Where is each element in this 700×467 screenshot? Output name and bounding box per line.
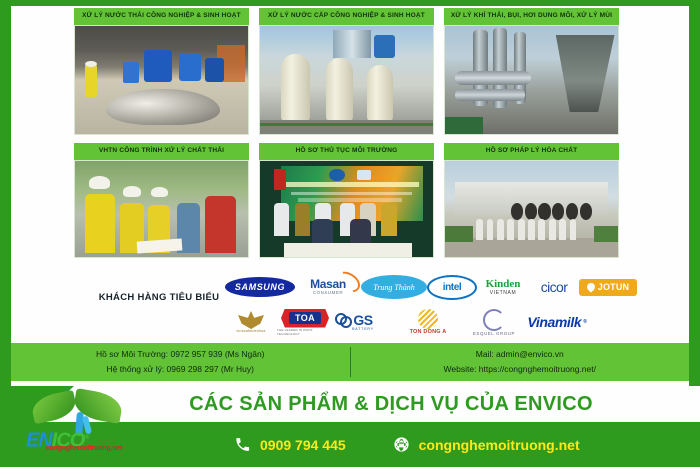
service-card-environmental-dossier[interactable]: HỒ SƠ THỦ TỤC MÔI TRƯỜNG xyxy=(259,143,434,263)
service-card-wastewater[interactable]: XỬ LÝ NƯỚC THẢI CÔNG NGHIỆP & SINH HOẠT xyxy=(74,8,249,139)
service-card-photo xyxy=(74,25,249,135)
service-card-photo xyxy=(259,25,434,135)
logo-toa-sub: THE LEADER IN PAINT TECHNOLOGY xyxy=(277,328,333,336)
contact-system-phone: Hệ thống xử lý: 0969 298 297 (Mr Huy) xyxy=(11,362,350,377)
service-card-photo xyxy=(259,160,434,258)
logo-gs-sub: BATTERY xyxy=(352,327,374,331)
phone-icon xyxy=(233,435,252,454)
shield-icon: TOA xyxy=(281,309,329,328)
customer-logo-row-1: SAMSUNG Masan CONSUMER Trung Thành intel… xyxy=(225,271,655,303)
logo-kinden-name: Kinden xyxy=(486,279,521,290)
logo-vinacafe-sub: vinacafebienhoa xyxy=(236,329,265,333)
logo-ton-dong-a: TON DONG A xyxy=(393,306,463,338)
service-card-caption: XỬ LÝ NƯỚC THẢI CÔNG NGHIỆP & SINH HOẠT xyxy=(74,8,249,25)
logo-kinden-sub: VIETNAM xyxy=(490,290,516,296)
logo-vinamilk: Vinamilk ® xyxy=(525,309,589,335)
rings-icon xyxy=(335,313,349,325)
customers-title: KHÁCH HÀNG TIÊU BIỂU xyxy=(98,292,220,303)
logo-vinamilk-name: Vinamilk xyxy=(527,314,581,330)
footer-website[interactable]: congnghemoitruong.net xyxy=(392,435,580,454)
contact-right: Mail: admin@envico.vn Website: https://c… xyxy=(351,347,690,377)
service-card-air-emission[interactable]: XỬ LÝ KHÍ THẢI, BỤI, HƠI DUNG MÔI, XỬ LÝ… xyxy=(444,8,619,139)
paint-drop-icon xyxy=(585,281,596,292)
logo-ton-dong-a-name: TON DONG A xyxy=(410,329,447,335)
service-card-chemical-legal[interactable]: HỒ SƠ PHÁP LÝ HÓA CHẤT xyxy=(444,143,619,263)
service-card-caption: XỬ LÝ NƯỚC CẤP CÔNG NGHIỆP & SINH HOẠT xyxy=(259,8,434,25)
footer-phone-number: 0909 794 445 xyxy=(260,437,346,453)
envico-logo[interactable]: ENICO® congnghemoitruong.net xyxy=(24,392,142,462)
logo-vinamilk-sub: ® xyxy=(583,319,586,325)
registered-icon: ® xyxy=(84,434,88,441)
contact-bar: Hồ sơ Môi Trường: 0972 957 939 (Ms Ngân)… xyxy=(11,343,689,381)
page-title: CÁC SẢN PHẨM & DỊCH VỤ CỦA ENVICO xyxy=(96,386,686,422)
customers-section: KHÁCH HÀNG TIÊU BIỂU SAMSUNG Masan CONSU… xyxy=(20,268,660,342)
sun-icon xyxy=(418,309,438,329)
customer-logos: SAMSUNG Masan CONSUMER Trung Thành intel… xyxy=(225,268,655,342)
envico-logo-tagline: congnghemoitruong.net xyxy=(26,445,142,452)
logo-esquel-name: ESQUEL GROUP xyxy=(473,331,515,336)
logo-masan-sub: CONSUMER xyxy=(313,290,343,295)
service-card-caption: HỒ SƠ THỦ TỤC MÔI TRƯỜNG xyxy=(259,143,434,160)
footer-website-text: congnghemoitruong.net xyxy=(419,437,580,453)
service-card-caption: VHTN CÔNG TRÌNH XỬ LÝ CHẤT THẢI xyxy=(74,143,249,160)
footer-phone[interactable]: 0909 794 445 xyxy=(233,435,346,454)
logo-jotun-name: JOTUN xyxy=(598,282,630,292)
service-card-water-supply[interactable]: XỬ LÝ NƯỚC CẤP CÔNG NGHIỆP & SINH HOẠT xyxy=(259,8,434,139)
service-card-waste-operation[interactable]: VHTN CÔNG TRÌNH XỬ LÝ CHẤT THẢI xyxy=(74,143,249,263)
circle-icon xyxy=(483,309,505,331)
contact-dossier-phone: Hồ sơ Môi Trường: 0972 957 939 (Ms Ngân) xyxy=(11,347,350,362)
contact-website: Website: https://congnghemoitruong.net/ xyxy=(351,362,690,377)
service-card-photo xyxy=(74,160,249,258)
contact-left: Hồ sơ Môi Trường: 0972 957 939 (Ms Ngân)… xyxy=(11,347,351,377)
service-cards-grid: XỬ LÝ NƯỚC THẢI CÔNG NGHIỆP & SINH HOẠT … xyxy=(74,8,619,263)
customer-logo-row-2: vinacafebienhoa TOA THE LEADER IN PAINT … xyxy=(225,304,655,340)
logo-toa: TOA THE LEADER IN PAINT TECHNOLOGY xyxy=(277,308,333,336)
service-card-photo xyxy=(444,160,619,258)
logo-gs-name: GS xyxy=(353,314,372,327)
logo-jotun: JOTUN xyxy=(579,279,637,296)
crown-icon xyxy=(238,311,264,329)
logo-esquel-group: ESQUEL GROUP xyxy=(463,307,525,337)
service-card-caption: HỒ SƠ PHÁP LÝ HÓA CHẤT xyxy=(444,143,619,160)
logo-cicor: cicor xyxy=(529,277,579,297)
service-card-photo xyxy=(444,25,619,135)
logo-masan: Masan CONSUMER xyxy=(295,274,361,300)
globe-icon xyxy=(392,435,411,454)
logo-kinden: Kinden VIETNAM xyxy=(477,274,529,300)
logo-trung-thanh: Trung Thành xyxy=(361,275,427,299)
poster-root: XỬ LÝ NƯỚC THẢI CÔNG NGHIỆP & SINH HOẠT … xyxy=(0,0,700,467)
contact-mail: Mail: admin@envico.vn xyxy=(351,347,690,362)
logo-intel: intel xyxy=(427,275,477,300)
logo-toa-name: TOA xyxy=(289,312,321,324)
logo-gs-battery: GS BATTERY xyxy=(333,309,393,335)
logo-vinacafe: vinacafebienhoa xyxy=(225,307,277,337)
leaf-icon-left xyxy=(30,390,78,425)
logo-samsung: SAMSUNG xyxy=(225,277,295,297)
service-card-caption: XỬ LÝ KHÍ THẢI, BỤI, HƠI DUNG MÔI, XỬ LÝ… xyxy=(444,8,619,25)
